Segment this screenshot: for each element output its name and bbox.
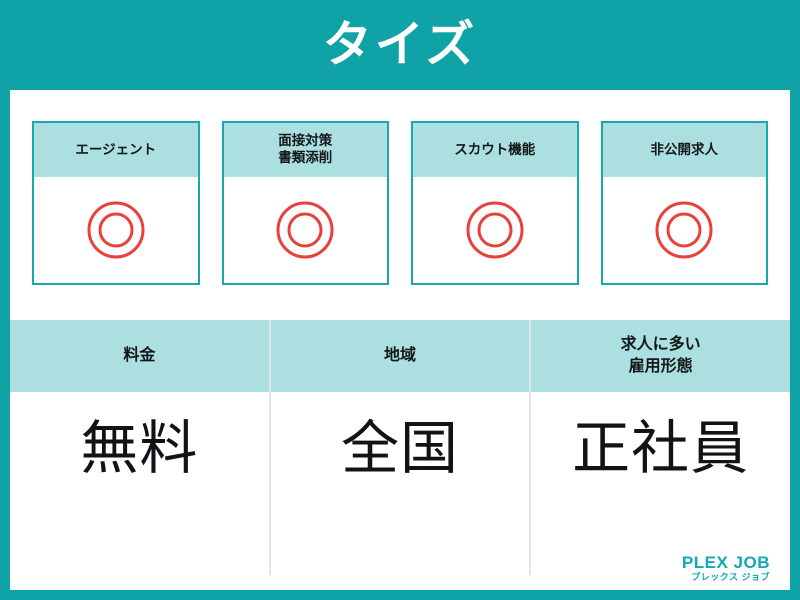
table-value-cell: 全国 [269, 392, 530, 575]
poster-root: タイズ エージェント 面接対策 書類添削 [0, 0, 800, 600]
brand-logo-main: PLEX JOB [682, 554, 770, 571]
feature-card: エージェント [32, 121, 200, 285]
feature-card-label: スカウト機能 [454, 142, 535, 159]
title-bar: タイズ [0, 0, 800, 90]
table-header-label: 地域 [384, 345, 416, 367]
feature-card: スカウト機能 [411, 121, 579, 285]
feature-card-label: 非公開求人 [651, 142, 719, 159]
page-title: タイズ [323, 21, 478, 70]
table-header-cell: 地域 [269, 320, 530, 392]
table-value-cell: 正社員 [529, 392, 790, 575]
feature-card-header: 非公開求人 [603, 123, 767, 177]
brand-logo: PLEX JOB プレックス ジョブ [682, 554, 770, 582]
comparison-table: 料金 地域 求人に多い 雇用形態 無料 全国 正社員 [10, 320, 790, 575]
table-header-cell: 料金 [10, 320, 269, 392]
feature-cards-row: エージェント 面接対策 書類添削 [10, 90, 790, 320]
double-circle-icon [275, 200, 335, 260]
content-panel: エージェント 面接対策 書類添削 [10, 90, 790, 590]
table-header-label: 求人に多い 雇用形態 [621, 334, 701, 377]
feature-card-header: 面接対策 書類添削 [224, 123, 388, 177]
feature-card-body [603, 177, 767, 283]
table-value-cell: 無料 [10, 392, 269, 575]
table-value: 全国 [341, 420, 459, 478]
table-value-row: 無料 全国 正社員 [10, 392, 790, 575]
double-circle-icon [654, 200, 714, 260]
brand-logo-sub: プレックス ジョブ [682, 573, 770, 582]
double-circle-icon [465, 200, 525, 260]
table-header-cell: 求人に多い 雇用形態 [529, 320, 790, 392]
double-circle-icon [86, 200, 146, 260]
feature-card: 非公開求人 [601, 121, 769, 285]
feature-card-label: エージェント [75, 142, 156, 159]
feature-card-body [34, 177, 198, 283]
feature-card-body [413, 177, 577, 283]
feature-card: 面接対策 書類添削 [222, 121, 390, 285]
table-value: 正社員 [572, 420, 749, 478]
table-header-row: 料金 地域 求人に多い 雇用形態 [10, 320, 790, 392]
feature-card-body [224, 177, 388, 283]
table-value: 無料 [80, 420, 198, 478]
feature-card-label: 面接対策 書類添削 [278, 133, 332, 167]
table-header-label: 料金 [123, 345, 155, 367]
feature-card-header: エージェント [34, 123, 198, 177]
feature-card-header: スカウト機能 [413, 123, 577, 177]
